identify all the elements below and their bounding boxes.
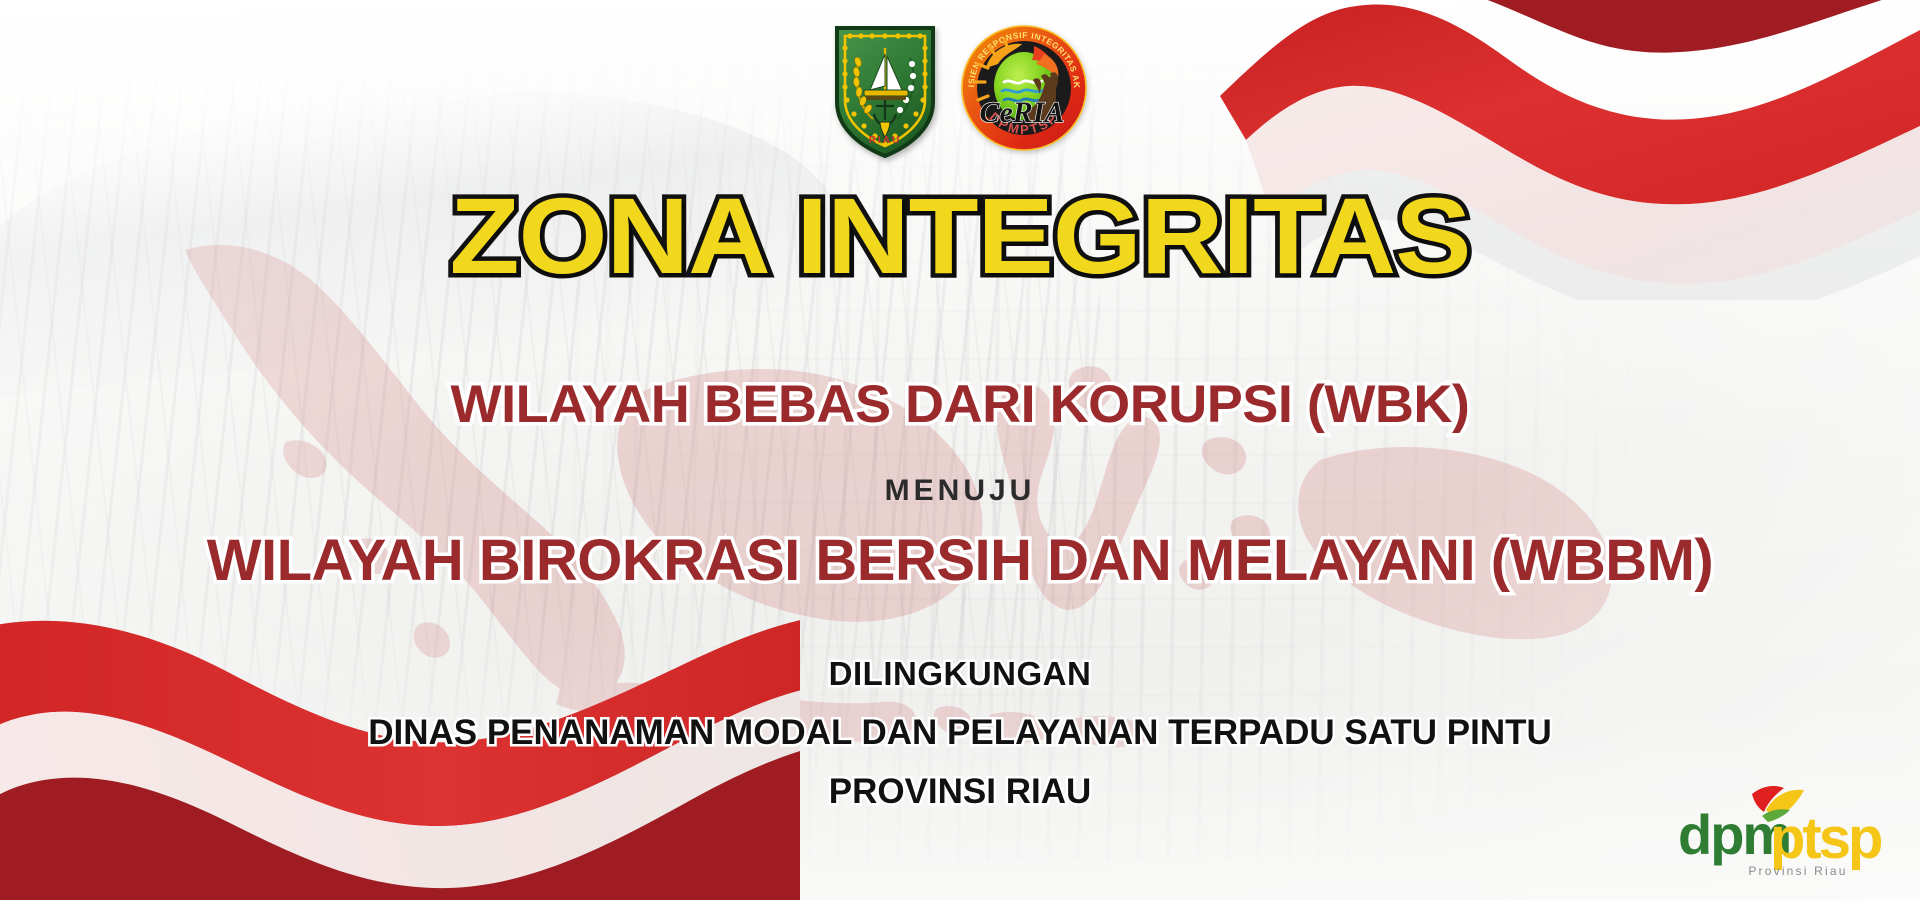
subtitle-wbk: WILAYAH BEBAS DARI KORUPSI (WBK) [0, 378, 1920, 431]
subtitle-wbbm: WILAYAH BIROKRASI BERSIH DAN MELAYANI (W… [0, 532, 1920, 590]
svg-text:Provinsi Riau: Provinsi Riau [1748, 864, 1847, 878]
dpmptsp-wordmark-logo-icon: dpm ptsp Provinsi Riau [1670, 776, 1886, 882]
region-name: PROVINSI RIAU [0, 772, 1920, 812]
zona-integritas-banner: RIAU [0, 0, 1920, 900]
banner-text-content: ZONA INTEGRITAS WILAYAH BEBAS DARI KORUP… [0, 0, 1920, 900]
svg-text:ptsp: ptsp [1770, 806, 1882, 871]
organization-name: DINAS PENANAMAN MODAL DAN PELAYANAN TERP… [0, 713, 1920, 753]
page-title: ZONA INTEGRITAS [0, 182, 1920, 290]
connector-label-menuju: MENUJU [0, 474, 1920, 508]
scope-label: DILINGKUNGAN [0, 655, 1920, 693]
